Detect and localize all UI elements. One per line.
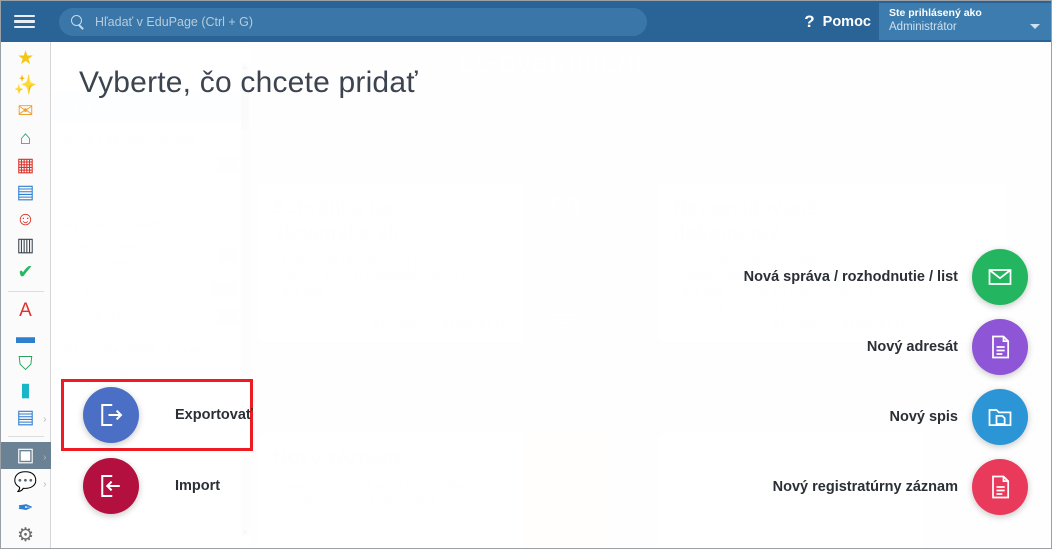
folder-document-icon [972,389,1028,445]
import-arrow-icon [83,458,139,514]
option-novy-adresat[interactable]: Nový adresát [867,319,1028,375]
option-exportovat[interactable]: Exportovať [83,387,253,443]
document-lines-icon [972,319,1028,375]
option-import[interactable]: Import [83,458,220,514]
document-lines-icon [972,459,1028,515]
application-window: ? Pomoc Ste prihlásený ako Administrátor… [0,0,1052,549]
export-arrow-icon [83,387,139,443]
modal-title: Vyberte, čo chcete pridať [79,66,418,100]
option-label: Import [175,478,220,494]
option-nova-sprava[interactable]: Nová správa / rozhodnutie / list [744,249,1028,305]
option-novy-registraturny-zaznam[interactable]: Nový registratúrny záznam [773,459,1028,515]
option-label: Nový spis [890,409,959,425]
option-label: Nová správa / rozhodnutie / list [744,269,958,285]
option-label: Exportovať [175,407,253,423]
add-item-modal: Vyberte, čo chcete pridať Exportovať Imp… [1,1,1052,549]
option-label: Nový registratúrny záznam [773,479,958,495]
option-novy-spis[interactable]: Nový spis [890,389,1029,445]
option-label: Nový adresát [867,339,958,355]
envelope-icon [972,249,1028,305]
